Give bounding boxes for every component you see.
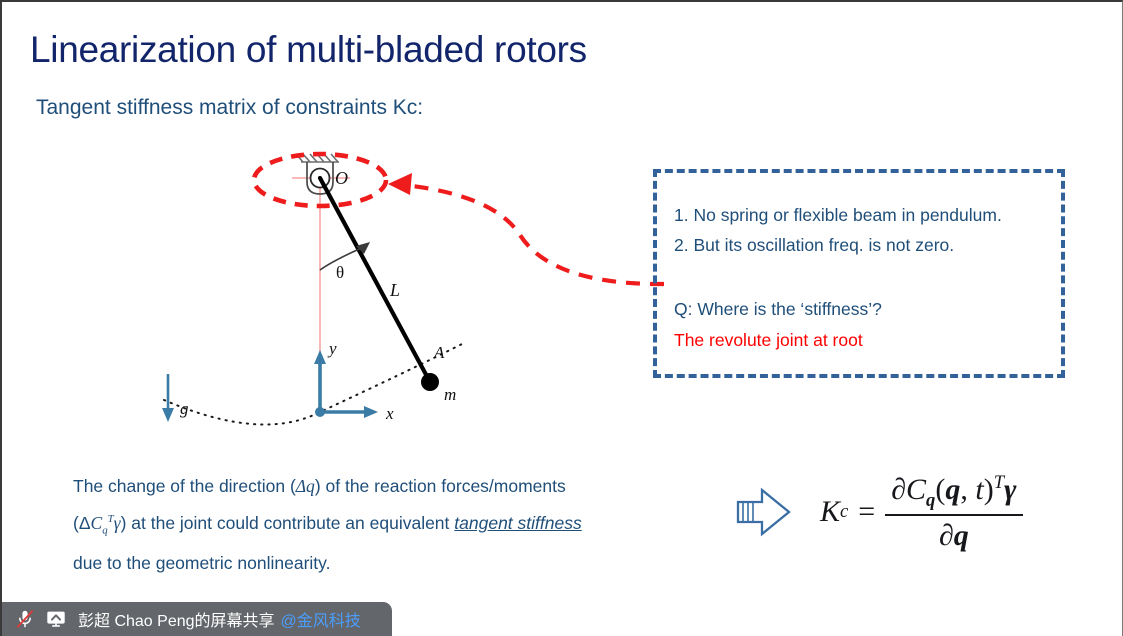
eq-lhs-subscript: c <box>840 501 848 523</box>
gravity-arrow-head <box>162 408 174 422</box>
callout-line-2: 2. But its oscillation freq. is not zero… <box>674 235 954 256</box>
eq-num-open-paren: ( <box>935 473 945 506</box>
tangent-stiffness-equation: Kc = ∂Cq(q, t)Tγ ∂q <box>820 472 1023 553</box>
diagram-label-mass: m <box>444 385 456 404</box>
diagram-label-pivot: O <box>335 168 348 188</box>
eq-den-partial: ∂ <box>939 519 954 552</box>
explanation-paragraph: The change of the direction (Δq) of the … <box>73 470 693 580</box>
eq-num-t: t <box>975 473 983 506</box>
para-c-symbol: C <box>91 513 103 533</box>
para-text-5: due to the geometric nonlinearity. <box>73 553 330 573</box>
eq-num-partial-c: ∂C <box>891 473 926 506</box>
eq-num-transpose: T <box>994 472 1004 493</box>
para-delta-q: Δq <box>296 476 315 496</box>
pendulum-mass <box>421 373 439 391</box>
x-axis-arrow-head <box>364 406 378 418</box>
diagram-label-y: y <box>327 339 337 358</box>
diagram-label-x: x <box>385 404 394 423</box>
eq-equals-sign: = <box>858 495 875 529</box>
para-tangent-stiffness: tangent stiffness <box>454 513 581 533</box>
callout-answer: The revolute joint at root <box>674 330 863 351</box>
diagram-label-length: L <box>389 280 400 300</box>
eq-num-close-paren: ) <box>984 473 994 506</box>
screen-share-icon[interactable] <box>45 608 67 630</box>
diagram-label-gravity: g <box>180 399 189 418</box>
eq-denominator: ∂q <box>933 516 975 553</box>
eq-num-gamma: γ <box>1004 473 1016 506</box>
callout-box: 1. No spring or flexible beam in pendulu… <box>653 169 1065 378</box>
origin-dot <box>315 407 325 417</box>
callout-question: Q: Where is the ‘stiffness’? <box>674 299 882 320</box>
diagram-label-point-a: A <box>433 343 445 362</box>
microphone-muted-icon[interactable] <box>14 608 36 630</box>
subtitle-text: Tangent stiffness matrix of constraints … <box>36 96 423 120</box>
para-text-1: The change of the direction ( <box>73 476 296 496</box>
eq-den-q: q <box>954 519 969 552</box>
para-text-2: ) of the reaction forces/moments <box>315 476 566 496</box>
presentation-slide: Linearization of multi-bladed rotors Tan… <box>0 0 1123 636</box>
pendulum-diagram: O θ L A m x y g <box>152 142 512 442</box>
screen-share-taskbar[interactable]: 彭超 Chao Peng的屏幕共享 @金风科技 <box>2 602 392 636</box>
para-text-4: ) at the joint could contribute an equiv… <box>121 513 455 533</box>
callout-line-1: 1. No spring or flexible beam in pendulu… <box>674 205 1002 226</box>
diagram-label-theta: θ <box>336 263 344 282</box>
page-title: Linearization of multi-bladed rotors <box>30 29 587 71</box>
eq-fraction: ∂Cq(q, t)Tγ ∂q <box>885 472 1022 553</box>
eq-num-comma: , <box>960 473 975 506</box>
para-gamma: γ <box>114 513 121 533</box>
y-axis-arrow-head <box>314 350 326 364</box>
share-handle-text: @金风科技 <box>281 607 361 631</box>
para-c-subscript: q <box>102 524 107 536</box>
para-text-3: (Δ <box>73 513 91 533</box>
block-right-arrow-icon <box>732 481 794 543</box>
eq-num-subscript: q <box>926 490 935 511</box>
eq-lhs: K <box>820 495 840 529</box>
eq-num-q: q <box>945 473 960 506</box>
equation-region: Kc = ∂Cq(q, t)Tγ ∂q <box>732 472 1023 553</box>
eq-numerator: ∂Cq(q, t)Tγ <box>885 472 1022 514</box>
share-status-text: 彭超 Chao Peng的屏幕共享 <box>78 607 275 631</box>
